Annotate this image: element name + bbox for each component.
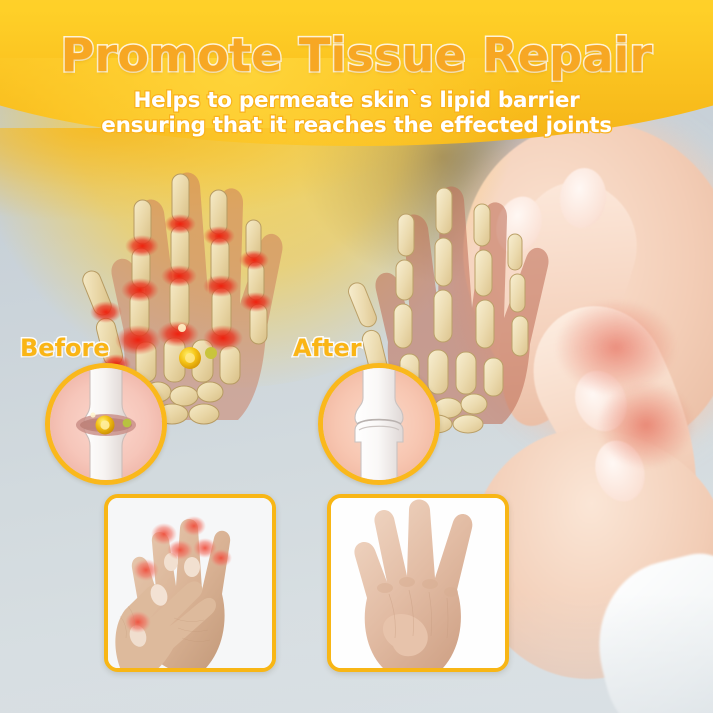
label-before: Before (20, 334, 110, 362)
joint-closeup-after (318, 363, 440, 485)
label-after: After (293, 334, 362, 362)
nail-3 (184, 557, 200, 577)
page-title: Promote Tissue Repair (0, 28, 713, 82)
heading-block: Promote Tissue Repair Helps to permeate … (0, 0, 713, 138)
photo-frame-before (104, 494, 276, 672)
inflammation-highlight-2 (598, 382, 694, 468)
inflammation-highlight (556, 300, 676, 395)
poster-root: Promote Tissue Repair Helps to permeate … (0, 0, 713, 713)
joint-closeup-before (45, 363, 167, 485)
page-subtitle-line-2: ensuring that it reaches the effected jo… (0, 113, 713, 138)
upper-bone (84, 368, 128, 422)
photo-frame-after (327, 494, 509, 672)
page-subtitle-line-1: Helps to permeate skin`s lipid barrier (0, 88, 713, 113)
